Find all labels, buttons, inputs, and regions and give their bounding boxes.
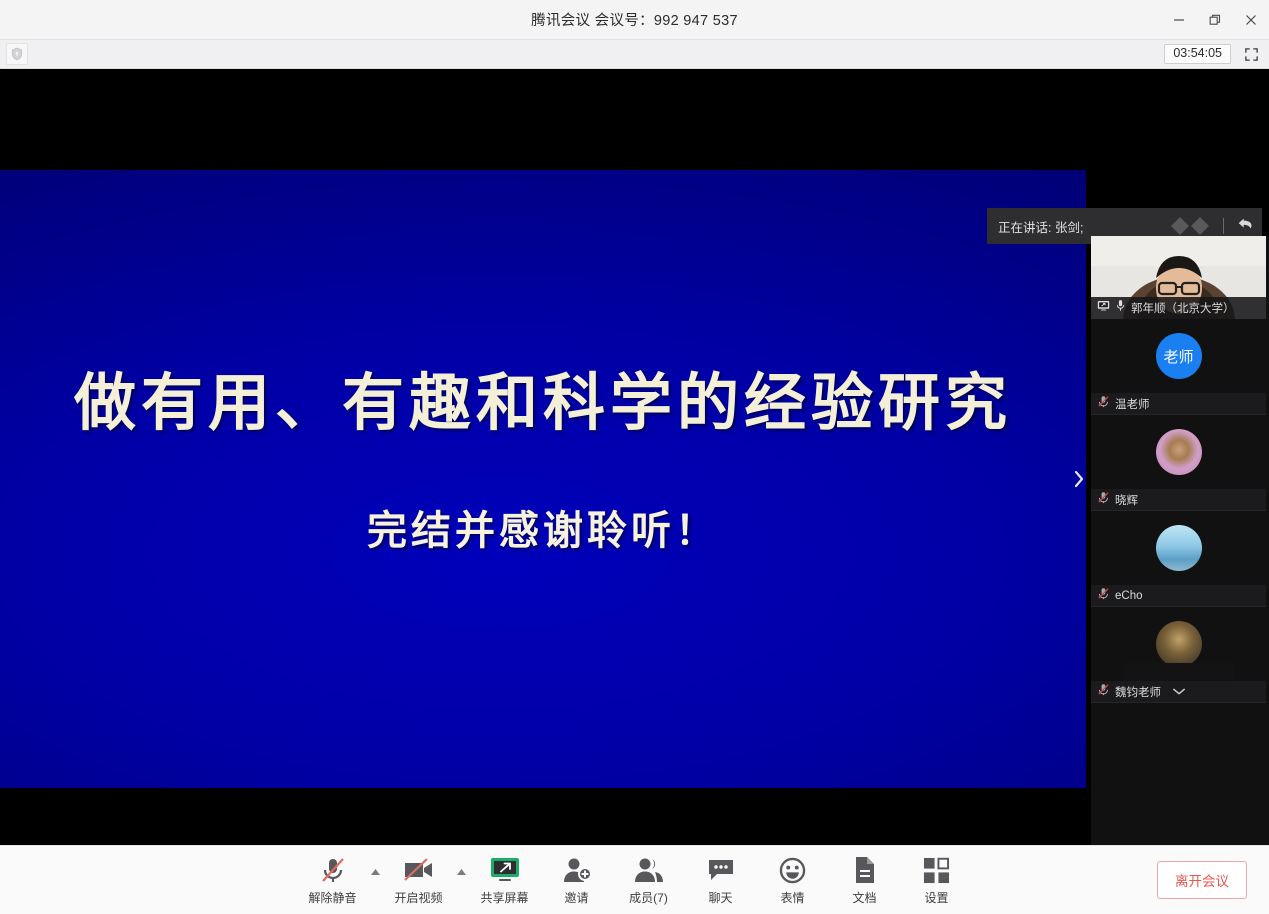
bottom-toolbar: 解除静音 开启视频 bbox=[0, 845, 1269, 914]
slide-title: 做有用、有趣和科学的经验研究 bbox=[0, 352, 1086, 442]
chat-label: 聊天 bbox=[708, 889, 732, 906]
title-bar: 腾讯会议 会议号：992 947 537 bbox=[0, 0, 1269, 40]
document-icon bbox=[853, 855, 877, 885]
participant-avatar-area: 老师 bbox=[1091, 319, 1266, 393]
participant-tile[interactable]: eCho bbox=[1091, 511, 1266, 607]
shared-screen-slide[interactable]: 做有用、有趣和科学的经验研究 完结并感谢聆听！ bbox=[0, 170, 1086, 788]
members-button[interactable]: 成员(7) bbox=[613, 851, 685, 911]
restore-icon[interactable] bbox=[1197, 0, 1233, 40]
page-title: 腾讯会议 会议号：992 947 537 bbox=[531, 9, 738, 30]
participant-name-strip: eCho bbox=[1091, 585, 1266, 607]
docs-button[interactable]: 文档 bbox=[829, 851, 901, 911]
chevron-right-icon[interactable] bbox=[1069, 456, 1086, 502]
meeting-timer: 03:54:05 bbox=[1164, 44, 1231, 64]
start-video-label: 开启视频 bbox=[394, 889, 442, 906]
start-video-button[interactable]: 开启视频 bbox=[383, 851, 455, 911]
divider bbox=[1223, 218, 1224, 234]
emoji-label: 表情 bbox=[780, 889, 804, 906]
participant-tile[interactable]: 晓辉 bbox=[1091, 415, 1266, 511]
participant-avatar-area bbox=[1091, 415, 1266, 489]
participant-name-strip: 郭年顺（北京大学） bbox=[1091, 297, 1266, 319]
share-screen-icon bbox=[1097, 299, 1110, 317]
speaking-label: 正在讲话: 张剑; bbox=[998, 217, 1163, 236]
mic-muted-icon bbox=[1097, 587, 1110, 605]
emoji-button[interactable]: 表情 bbox=[757, 851, 829, 911]
participant-name: 魏钧老师 bbox=[1115, 684, 1161, 700]
members-label: 成员(7) bbox=[629, 889, 668, 906]
participant-name: 温老师 bbox=[1115, 396, 1150, 412]
meeting-window: 腾讯会议 会议号：992 947 537 bbox=[0, 0, 1269, 914]
chat-bubble-icon bbox=[707, 855, 735, 885]
mic-muted-icon bbox=[1097, 683, 1110, 701]
avatar bbox=[1156, 429, 1202, 475]
participant-name: 郭年顺（北京大学） bbox=[1131, 300, 1235, 316]
invite-button[interactable]: 邀请 bbox=[541, 851, 613, 911]
avatar bbox=[1156, 525, 1202, 571]
unmute-button[interactable]: 解除静音 bbox=[297, 851, 369, 911]
participant-tile[interactable]: 郭年顺（北京大学） bbox=[1091, 236, 1266, 319]
slide-subtitle: 完结并感谢聆听！ bbox=[0, 498, 1086, 556]
participant-name-strip: 魏钧老师 bbox=[1091, 681, 1266, 703]
participant-tile[interactable]: 魏钧老师 bbox=[1091, 607, 1266, 703]
camera-options-caret-up-icon[interactable] bbox=[455, 851, 469, 911]
participant-tile[interactable]: 老师 温老师 bbox=[1091, 319, 1266, 415]
mic-muted-icon bbox=[1097, 491, 1110, 509]
avatar bbox=[1156, 621, 1202, 667]
participant-name-strip: 晓辉 bbox=[1091, 489, 1266, 511]
participant-avatar-area bbox=[1091, 511, 1266, 585]
back-arrow-icon[interactable] bbox=[1236, 215, 1254, 238]
share-screen-icon bbox=[488, 855, 522, 885]
mic-options-caret-up-icon[interactable] bbox=[369, 851, 383, 911]
user-add-icon bbox=[562, 855, 592, 885]
window-controls bbox=[1161, 0, 1269, 40]
chat-button[interactable]: 聊天 bbox=[685, 851, 757, 911]
secondary-toolbar: 03:54:05 bbox=[0, 40, 1269, 69]
invite-label: 邀请 bbox=[564, 889, 588, 906]
share-screen-label: 共享屏幕 bbox=[480, 889, 528, 906]
fullscreen-icon[interactable] bbox=[1239, 43, 1263, 65]
mic-muted-icon bbox=[320, 855, 346, 885]
participant-name: 晓辉 bbox=[1115, 492, 1138, 508]
camera-muted-icon bbox=[403, 855, 435, 885]
meeting-stage: 做有用、有趣和科学的经验研究 完结并感谢聆听！ 正在讲话: 张剑; bbox=[0, 69, 1269, 845]
users-icon bbox=[633, 855, 665, 885]
unmute-label: 解除静音 bbox=[308, 889, 356, 906]
shield-icon[interactable] bbox=[6, 43, 28, 65]
participant-name: eCho bbox=[1115, 590, 1143, 602]
docs-label: 文档 bbox=[852, 889, 876, 906]
participant-name-strip: 温老师 bbox=[1091, 393, 1266, 415]
mic-icon bbox=[1115, 299, 1126, 317]
close-icon[interactable] bbox=[1233, 0, 1269, 40]
chevron-down-icon[interactable] bbox=[1172, 683, 1186, 701]
subbar-right-group: 03:54:05 bbox=[1164, 43, 1263, 65]
tile-overlay-bar bbox=[1124, 663, 1234, 681]
mic-muted-icon bbox=[1097, 395, 1110, 413]
share-screen-button[interactable]: 共享屏幕 bbox=[469, 851, 541, 911]
leave-meeting-button[interactable]: 离开会议 bbox=[1157, 861, 1247, 899]
double-chevron-icon[interactable] bbox=[1169, 216, 1213, 236]
settings-button[interactable]: 设置 bbox=[901, 851, 973, 911]
participant-rail[interactable]: 郭年顺（北京大学） 老师 bbox=[1091, 236, 1269, 914]
settings-label: 设置 bbox=[924, 889, 948, 906]
grid-icon bbox=[923, 855, 950, 885]
toolbar-items: 解除静音 开启视频 bbox=[0, 846, 1269, 914]
avatar: 老师 bbox=[1156, 333, 1202, 379]
minimize-icon[interactable] bbox=[1161, 0, 1197, 40]
smiley-icon bbox=[779, 855, 806, 885]
